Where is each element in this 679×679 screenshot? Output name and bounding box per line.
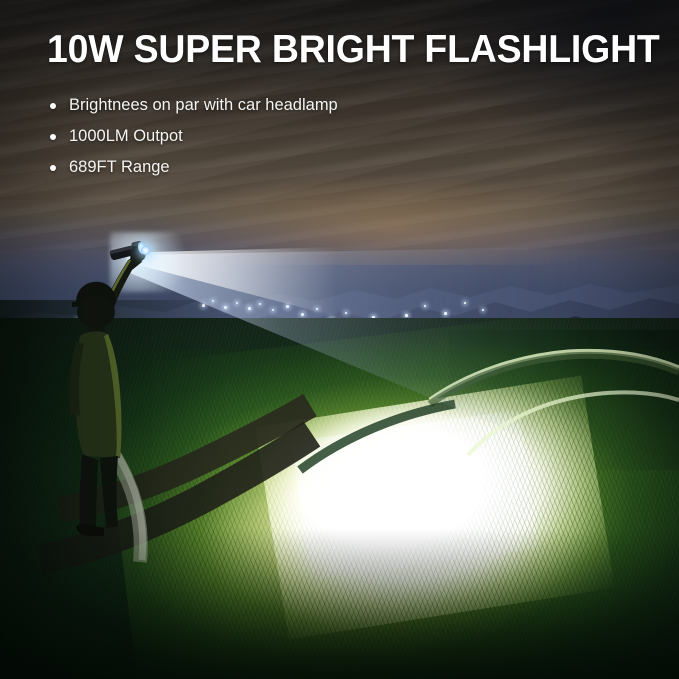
product-feature-image: 10W SUPER BRIGHT FLASHLIGHT Brightnees o… [0, 0, 679, 679]
bullet-dot-icon [50, 165, 56, 171]
feature-list: Brightnees on par with car headlamp 1000… [48, 90, 338, 183]
bullet-dot-icon [50, 134, 56, 140]
foreground-shadow [0, 529, 679, 679]
list-item: 689FT Range [48, 152, 338, 183]
flashlight-led-icon [141, 246, 150, 255]
bullet-dot-icon [50, 103, 56, 109]
list-item: 1000LM Outpot [48, 121, 338, 152]
feature-label: 1000LM Outpot [69, 127, 183, 145]
person-with-flashlight [46, 236, 166, 536]
list-item: Brightnees on par with car headlamp [48, 90, 338, 121]
page-title: 10W SUPER BRIGHT FLASHLIGHT [47, 30, 660, 69]
feature-label: 689FT Range [69, 158, 170, 176]
feature-label: Brightnees on par with car headlamp [69, 96, 338, 114]
